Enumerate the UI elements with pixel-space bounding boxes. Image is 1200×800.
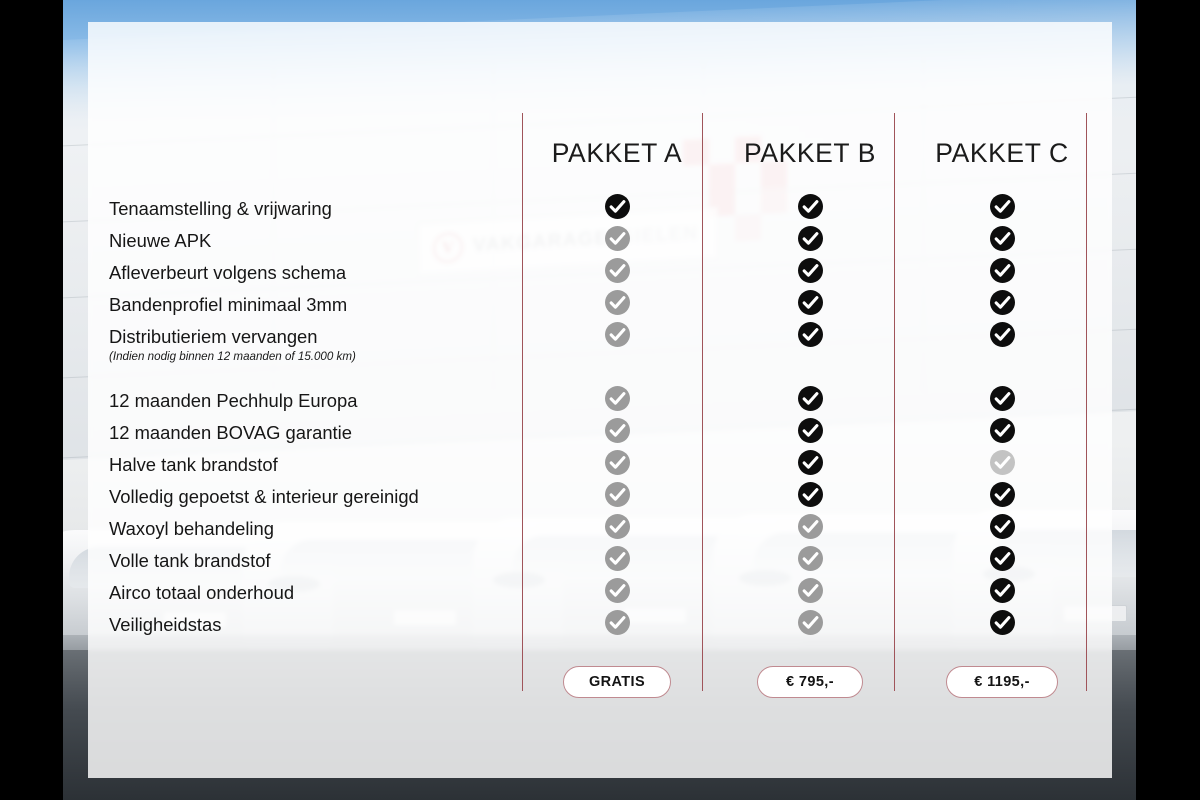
check-icon bbox=[798, 578, 823, 603]
check-icon bbox=[798, 610, 823, 635]
feature-label: Bandenprofiel minimaal 3mm bbox=[109, 296, 347, 314]
check-icon bbox=[990, 578, 1015, 603]
feature-label: Tenaamstelling & vrijwaring bbox=[109, 200, 332, 218]
feature-label: Halve tank brandstof bbox=[109, 456, 278, 474]
column-header-b: PAKKET B bbox=[712, 138, 908, 169]
check-icon bbox=[605, 450, 630, 475]
check-icon bbox=[798, 386, 823, 411]
price-button-c[interactable]: € 1195,- bbox=[946, 666, 1058, 698]
check-icon bbox=[605, 610, 630, 635]
check-icon bbox=[990, 610, 1015, 635]
check-icon bbox=[798, 322, 823, 347]
check-icon bbox=[798, 418, 823, 443]
check-icon bbox=[605, 194, 630, 219]
check-icon bbox=[605, 290, 630, 315]
check-icon bbox=[798, 226, 823, 251]
check-icon bbox=[990, 258, 1015, 283]
check-icon bbox=[798, 450, 823, 475]
check-icon bbox=[798, 546, 823, 571]
check-icon bbox=[605, 226, 630, 251]
feature-label: Distributieriem vervangen bbox=[109, 328, 318, 346]
feature-label: Airco totaal onderhoud bbox=[109, 584, 294, 602]
check-icon bbox=[990, 290, 1015, 315]
package-comparison-table: PAKKET APAKKET BPAKKET C Tenaamstelling … bbox=[88, 22, 1112, 778]
check-icon bbox=[605, 418, 630, 443]
check-icon bbox=[990, 450, 1015, 475]
pricing-card: PAKKET APAKKET BPAKKET C Tenaamstelling … bbox=[88, 22, 1112, 778]
check-icon bbox=[990, 482, 1015, 507]
check-icon bbox=[605, 322, 630, 347]
check-icon bbox=[798, 194, 823, 219]
check-icon bbox=[605, 578, 630, 603]
check-icon bbox=[605, 546, 630, 571]
column-divider-3 bbox=[1086, 113, 1087, 691]
feature-label: Waxoyl behandeling bbox=[109, 520, 274, 538]
check-icon bbox=[798, 514, 823, 539]
feature-label: 12 maanden Pechhulp Europa bbox=[109, 392, 357, 410]
feature-label: Volledig gepoetst & interieur gereinigd bbox=[109, 488, 419, 506]
check-icon bbox=[605, 386, 630, 411]
check-icon bbox=[990, 546, 1015, 571]
feature-label: Afleverbeurt volgens schema bbox=[109, 264, 346, 282]
feature-label: Veiligheidstas bbox=[109, 616, 221, 634]
check-icon bbox=[990, 194, 1015, 219]
column-divider-0 bbox=[522, 113, 523, 691]
price-button-a[interactable]: GRATIS bbox=[563, 666, 671, 698]
screenshot-stage: V VAKGARAGE GIELEN PAKKET APAKKET BPAKKE… bbox=[0, 0, 1200, 800]
check-icon bbox=[990, 226, 1015, 251]
feature-label: 12 maanden BOVAG garantie bbox=[109, 424, 352, 442]
column-header-a: PAKKET A bbox=[519, 138, 715, 169]
distribution-belt-footnote: (Indien nodig binnen 12 maanden of 15.00… bbox=[109, 350, 356, 363]
feature-label: Volle tank brandstof bbox=[109, 552, 271, 570]
price-button-b[interactable]: € 795,- bbox=[757, 666, 863, 698]
column-header-c: PAKKET C bbox=[904, 138, 1100, 169]
check-icon bbox=[990, 418, 1015, 443]
check-icon bbox=[798, 258, 823, 283]
check-icon bbox=[798, 482, 823, 507]
column-divider-1 bbox=[702, 113, 703, 691]
feature-label: Nieuwe APK bbox=[109, 232, 211, 250]
check-icon bbox=[990, 386, 1015, 411]
check-icon bbox=[605, 482, 630, 507]
check-icon bbox=[605, 258, 630, 283]
check-icon bbox=[798, 290, 823, 315]
check-icon bbox=[990, 322, 1015, 347]
check-icon bbox=[990, 514, 1015, 539]
check-icon bbox=[605, 514, 630, 539]
column-divider-2 bbox=[894, 113, 895, 691]
